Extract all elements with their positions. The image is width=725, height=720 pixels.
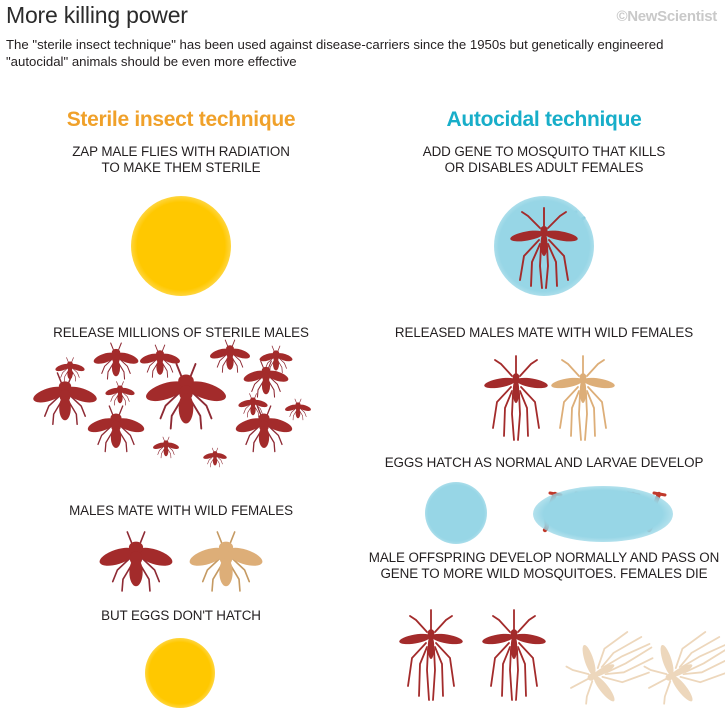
fly-swarm-art xyxy=(8,348,356,468)
fly-swarm xyxy=(8,348,356,468)
radiation-badge-art xyxy=(131,196,231,296)
mosquito-dead-female-2-icon xyxy=(634,617,725,717)
column-heading-right: Autocidal technique xyxy=(363,108,725,132)
fly-female-icon xyxy=(187,532,264,591)
dna-mosquito-art xyxy=(494,196,594,296)
step-no-hatch-label: BUT EGGS DON'T HATCH xyxy=(0,608,362,624)
larvae-art xyxy=(533,480,673,548)
unhatched-eggs-art xyxy=(145,638,215,708)
mosquito-male-icon xyxy=(483,356,548,440)
step-released-mate-label: RELEASED MALES MATE WITH WILD FEMALES xyxy=(363,325,725,341)
infographic-canvas: More killing power ©NewScientist The "st… xyxy=(0,0,725,720)
mosquito-offspring-1-icon xyxy=(398,610,463,700)
mosquito-pair xyxy=(468,348,628,452)
mosquito-dead-female-1-icon xyxy=(556,617,666,717)
step-eggs-hatch-label: EGGS HATCH AS NORMAL AND LARVAE DEVELOP xyxy=(363,455,725,471)
step-zap-label: ZAP MALE FLIES WITH RADIATIONTO MAKE THE… xyxy=(0,144,362,176)
offspring-group xyxy=(379,600,719,720)
page-title: More killing power xyxy=(6,2,188,29)
step-release-label: RELEASE MILLIONS OF STERILE MALES xyxy=(0,325,362,341)
fly-male-icon xyxy=(97,532,174,591)
step-offspring-label: MALE OFFSPRING DEVELOP NORMALLY AND PASS… xyxy=(363,550,725,582)
mosquito-offspring-2-icon xyxy=(481,610,546,700)
step-mate-label: MALES MATE WITH WILD FEMALES xyxy=(0,503,362,519)
mosquito-female-icon xyxy=(550,356,615,440)
mosquito-pair-art xyxy=(468,348,628,452)
column-heading-left: Sterile insect technique xyxy=(0,108,362,132)
brand-logo: ©NewScientist xyxy=(616,8,717,25)
column-sterile-insect-technique: Sterile insect technique ZAP MALE FLIES … xyxy=(0,100,362,720)
column-autocidal-technique: Autocidal technique ADD GENE TO MOSQUITO… xyxy=(363,100,725,720)
offspring-and-dead-females-art xyxy=(379,600,719,720)
fly-pair xyxy=(88,525,278,603)
standfirst: The "sterile insect technique" has been … xyxy=(6,36,696,70)
mating-flies-art xyxy=(88,525,278,603)
mosquito-icon xyxy=(494,196,594,296)
eggs-blue-art xyxy=(425,482,487,544)
step-add-gene-label: ADD GENE TO MOSQUITO THAT KILLSOR DISABL… xyxy=(363,144,725,176)
